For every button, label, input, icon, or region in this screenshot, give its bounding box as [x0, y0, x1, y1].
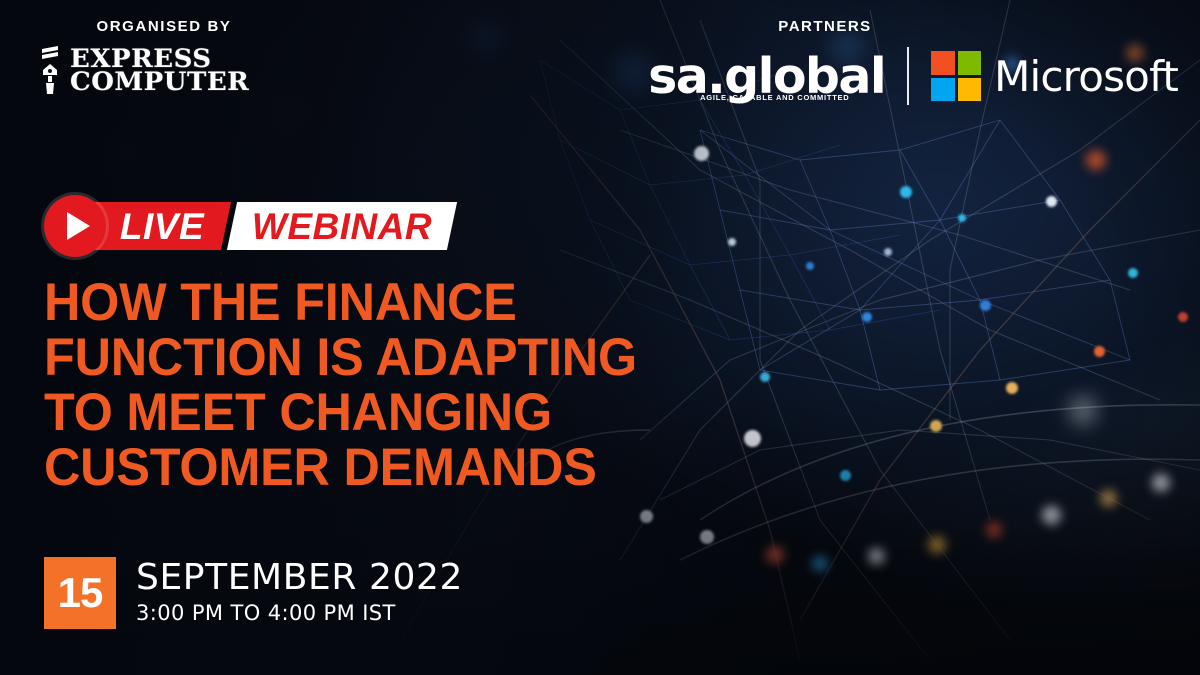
webinar-promo-poster: ORGANISED BY EXPRESS COMPUTER PARTNERS [0, 0, 1200, 675]
event-day-tile: 15 [44, 557, 116, 629]
organiser-block: ORGANISED BY EXPRESS COMPUTER [34, 18, 294, 96]
ec-line-computer: COMPUTER [70, 70, 249, 93]
event-day-number: 15 [58, 572, 103, 614]
webinar-label-panel: WEBINAR [227, 202, 457, 250]
headline-line-2: FUNCTION IS ADAPTING [44, 331, 709, 386]
play-button-icon [44, 195, 106, 257]
microsoft-yellow-square [958, 78, 982, 102]
microsoft-red-square [931, 51, 955, 75]
headline-line-3: TO MEET CHANGING [44, 386, 709, 441]
event-date-block: 15 SEPTEMBER 2022 3:00 PM TO 4:00 PM IST [44, 557, 463, 629]
microsoft-logo: Microsoft [931, 51, 1178, 101]
live-label: LIVE [120, 208, 204, 245]
headline: HOW THE FINANCE FUNCTION IS ADAPTING TO … [44, 276, 744, 495]
event-month-year: SEPTEMBER 2022 [136, 559, 463, 598]
microsoft-blue-square [931, 78, 955, 102]
partner-divider [907, 47, 909, 105]
play-triangle-icon [67, 212, 90, 240]
express-computer-logo: EXPRESS COMPUTER [34, 44, 294, 96]
microsoft-squares [931, 51, 981, 101]
headline-line-4: CUSTOMER DEMANDS [44, 441, 709, 496]
organised-by-label: ORGANISED BY [34, 18, 294, 35]
headline-line-1: HOW THE FINANCE [44, 276, 709, 331]
express-computer-wordmark: EXPRESS COMPUTER [70, 47, 242, 93]
event-date-text: SEPTEMBER 2022 3:00 PM TO 4:00 PM IST [136, 557, 463, 629]
webinar-label: WEBINAR [252, 208, 432, 245]
partners-label: PARTNERS [658, 18, 992, 35]
saglobal-tagline: AGILE, CAPABLE AND COMMITTED [700, 93, 849, 102]
event-time: 3:00 PM TO 4:00 PM IST [136, 600, 463, 627]
microsoft-wordmark: Microsoft [994, 52, 1178, 101]
live-webinar-badge: LIVE WEBINAR [44, 195, 453, 257]
saglobal-logo: sa.global AGILE, CAPABLE AND COMMITTED [648, 52, 885, 101]
partners-block: PARTNERS sa.global AGILE, CAPABLE AND CO… [658, 18, 1178, 105]
partners-logo-row: sa.global AGILE, CAPABLE AND COMMITTED M… [658, 47, 1178, 105]
microsoft-green-square [958, 51, 982, 75]
pen-nib-icon [38, 44, 62, 96]
